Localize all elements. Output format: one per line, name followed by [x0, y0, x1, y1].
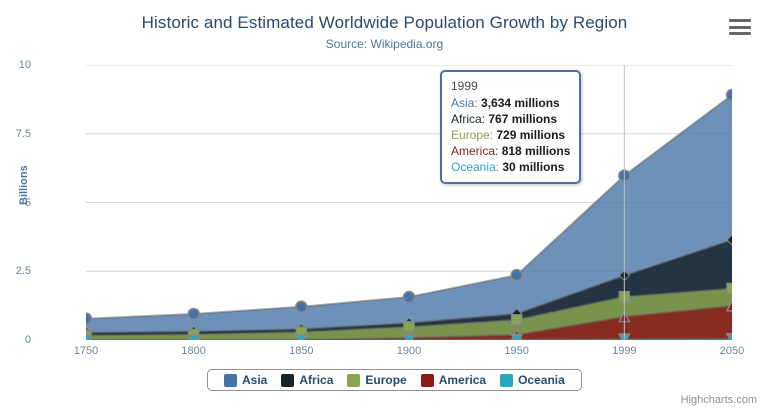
hamburger-bar: [729, 19, 751, 22]
x-axis-tick-label: 1750: [51, 345, 121, 357]
legend-label: Asia: [242, 373, 267, 387]
legend-label: Oceania: [518, 373, 565, 387]
x-axis-tick-label: 1950: [482, 345, 552, 357]
legend-swatch-icon: [421, 374, 434, 387]
data-point-asia-1950[interactable]: [511, 270, 522, 281]
y-axis-tick-label: 2.5: [0, 265, 31, 277]
tooltip-series-value: 3,634 millions: [481, 96, 560, 110]
data-point-oceania-1900[interactable]: [404, 335, 414, 340]
data-point-asia-1900[interactable]: [404, 291, 415, 302]
tooltip-rows: Asia: 3,634 millionsAfrica: 767 millions…: [451, 95, 570, 175]
tooltip-series-value: 818 millions: [502, 144, 571, 158]
tooltip: 1999 Asia: 3,634 millionsAfrica: 767 mil…: [440, 70, 581, 184]
credits-label[interactable]: Highcharts.com: [681, 394, 757, 406]
legend-item-europe[interactable]: Europe: [347, 373, 406, 387]
tooltip-series-name: America:: [451, 144, 502, 158]
legend-label: Africa: [299, 373, 333, 387]
data-point-asia-1800[interactable]: [188, 308, 199, 319]
chart-legend: AsiaAfricaEuropeAmericaOceania: [207, 369, 582, 391]
legend-swatch-icon: [281, 374, 294, 387]
plot-area: [86, 65, 732, 340]
area-chart-svg: [86, 65, 732, 340]
tooltip-series-value: 767 millions: [488, 112, 557, 126]
legend-swatch-icon: [347, 374, 360, 387]
tooltip-row-europe: Europe: 729 millions: [451, 127, 570, 143]
legend-item-africa[interactable]: Africa: [281, 373, 333, 387]
data-point-oceania-1950[interactable]: [512, 335, 522, 340]
data-point-asia-1750[interactable]: [86, 313, 92, 324]
x-axis-tick-label: 1850: [266, 345, 336, 357]
hamburger-bar: [729, 26, 751, 29]
tooltip-series-value: 30 millions: [502, 160, 564, 174]
y-axis-tick-label: 10: [0, 59, 31, 71]
tooltip-header: 1999: [451, 78, 570, 95]
tooltip-row-america: America: 818 millions: [451, 143, 570, 159]
highcharts-chart: Historic and Estimated Worldwide Populat…: [0, 0, 769, 416]
x-axis-tick-label: 1999: [589, 345, 659, 357]
data-point-asia-2050[interactable]: [727, 90, 733, 101]
chart-title: Historic and Estimated Worldwide Populat…: [0, 13, 769, 33]
data-point-oceania-1850[interactable]: [296, 335, 306, 340]
data-point-oceania-1800[interactable]: [189, 335, 199, 340]
legend-item-america[interactable]: America: [421, 373, 486, 387]
y-axis-tick-label: 5: [0, 197, 31, 209]
legend-label: Europe: [365, 373, 406, 387]
tooltip-row-africa: Africa: 767 millions: [451, 111, 570, 127]
tooltip-series-name: Oceania:: [451, 160, 502, 174]
x-axis-tick-label: 1900: [374, 345, 444, 357]
legend-swatch-icon: [500, 374, 513, 387]
tooltip-series-name: Africa:: [451, 112, 488, 126]
data-point-europe-1900[interactable]: [404, 322, 414, 332]
y-axis-tick-label: 0: [0, 334, 31, 346]
legend-label: America: [439, 373, 486, 387]
tooltip-row-oceania: Oceania: 30 millions: [451, 159, 570, 175]
x-axis-tick-label: 2050: [697, 345, 767, 357]
tooltip-series-name: Asia:: [451, 96, 481, 110]
data-point-asia-1850[interactable]: [296, 301, 307, 312]
legend-swatch-icon: [224, 374, 237, 387]
tooltip-row-asia: Asia: 3,634 millions: [451, 95, 570, 111]
chart-subtitle: Source: Wikipedia.org: [0, 37, 769, 51]
tooltip-series-value: 729 millions: [496, 128, 565, 142]
data-point-europe-1950[interactable]: [512, 315, 522, 325]
hamburger-menu-icon[interactable]: [729, 16, 753, 38]
data-point-europe-2050[interactable]: [727, 283, 732, 293]
legend-item-asia[interactable]: Asia: [224, 373, 267, 387]
tooltip-series-name: Europe:: [451, 128, 496, 142]
legend-item-oceania[interactable]: Oceania: [500, 373, 565, 387]
x-axis-tick-label: 1800: [159, 345, 229, 357]
hamburger-bar: [729, 32, 751, 35]
y-axis-tick-label: 7.5: [0, 128, 31, 140]
